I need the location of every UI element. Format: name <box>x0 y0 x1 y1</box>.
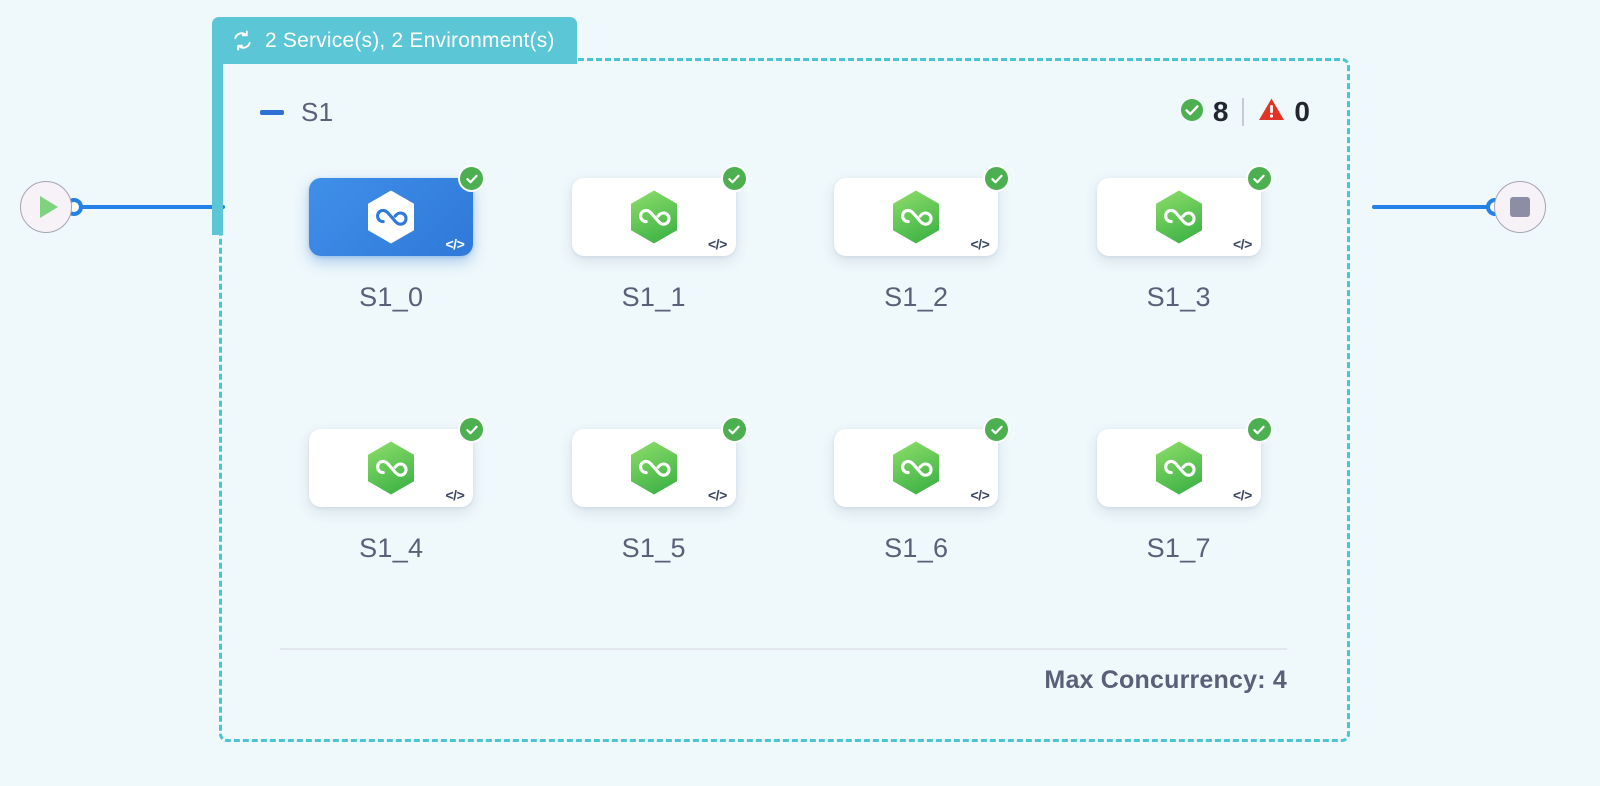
group-title: S1 <box>301 97 333 128</box>
edge-group-to-end <box>1372 205 1504 209</box>
max-concurrency-label: Max Concurrency: 4 <box>1044 666 1287 695</box>
code-icon[interactable]: </> <box>708 488 727 502</box>
stop-icon <box>1510 197 1530 217</box>
node-label: S1_5 <box>622 533 686 564</box>
hexagon-infinity-icon <box>365 440 417 496</box>
check-circle-icon <box>1246 416 1273 443</box>
warning-triangle-icon <box>1258 97 1285 127</box>
status-warning: 0 <box>1258 97 1310 127</box>
check-circle-icon <box>721 165 748 192</box>
code-icon[interactable]: </> <box>708 237 727 251</box>
service-node-card[interactable]: </> <box>572 429 736 507</box>
service-node-card[interactable]: </> <box>1097 429 1261 507</box>
status-success-count: 8 <box>1213 98 1229 126</box>
status-counts: 8 0 <box>1180 97 1310 127</box>
workflow-canvas[interactable]: 2 Service(s), 2 Environment(s) S1 8 <box>0 0 1600 786</box>
service-node-card[interactable]: </> <box>1097 178 1261 256</box>
check-circle-icon <box>458 165 485 192</box>
hexagon-infinity-icon <box>628 440 680 496</box>
check-circle-icon <box>1180 98 1204 127</box>
group-collapse-toggle[interactable]: S1 <box>260 97 333 128</box>
end-node[interactable] <box>1494 181 1546 233</box>
group-header: S1 8 <box>260 92 1310 132</box>
status-warning-count: 0 <box>1294 98 1310 126</box>
play-icon <box>40 196 58 218</box>
node-label: S1_2 <box>884 282 948 313</box>
check-circle-icon <box>983 416 1010 443</box>
hexagon-infinity-icon <box>1153 189 1205 245</box>
status-divider <box>1242 98 1244 126</box>
loop-arrows-icon <box>231 29 254 52</box>
code-icon[interactable]: </> <box>446 488 465 502</box>
hexagon-infinity-icon <box>365 189 417 245</box>
service-node-card[interactable]: </> <box>834 178 998 256</box>
check-circle-icon <box>1246 165 1273 192</box>
group-frame <box>219 58 1350 742</box>
minus-icon <box>260 110 284 115</box>
code-icon[interactable]: </> <box>1233 237 1252 251</box>
hexagon-infinity-icon <box>890 440 942 496</box>
group-badge[interactable]: 2 Service(s), 2 Environment(s) <box>212 17 577 64</box>
node-label: S1_0 <box>359 282 423 313</box>
node-cell: </>S1_5 <box>523 429 786 564</box>
service-node-card[interactable]: </> <box>834 429 998 507</box>
node-cell: </>S1_0 <box>260 178 523 313</box>
hexagon-infinity-icon <box>1153 440 1205 496</box>
node-label: S1_3 <box>1147 282 1211 313</box>
node-label: S1_7 <box>1147 533 1211 564</box>
check-circle-icon <box>458 416 485 443</box>
group-footer-divider <box>280 648 1287 650</box>
service-node-card[interactable]: </> <box>572 178 736 256</box>
node-cell: </>S1_7 <box>1048 429 1311 564</box>
check-circle-icon <box>721 416 748 443</box>
node-label: S1_4 <box>359 533 423 564</box>
service-node-card[interactable]: </> <box>309 178 473 256</box>
node-row: </>S1_0</>S1_1</>S1_2</>S1_3 <box>260 178 1310 313</box>
service-node-card[interactable]: </> <box>309 429 473 507</box>
code-icon[interactable]: </> <box>971 488 990 502</box>
node-label: S1_1 <box>622 282 686 313</box>
code-icon[interactable]: </> <box>446 237 465 251</box>
group-badge-label: 2 Service(s), 2 Environment(s) <box>265 29 555 53</box>
node-cell: </>S1_4 <box>260 429 523 564</box>
group-badge-stem <box>212 60 223 235</box>
node-label: S1_6 <box>884 533 948 564</box>
edge-start-to-group <box>75 205 225 209</box>
code-icon[interactable]: </> <box>971 237 990 251</box>
node-cell: </>S1_2 <box>785 178 1048 313</box>
node-cell: </>S1_3 <box>1048 178 1311 313</box>
code-icon[interactable]: </> <box>1233 488 1252 502</box>
node-cell: </>S1_1 <box>523 178 786 313</box>
status-success: 8 <box>1180 98 1229 127</box>
hexagon-infinity-icon <box>628 189 680 245</box>
node-cell: </>S1_6 <box>785 429 1048 564</box>
start-node[interactable] <box>20 181 72 233</box>
check-circle-icon <box>983 165 1010 192</box>
node-row: </>S1_4</>S1_5</>S1_6</>S1_7 <box>260 429 1310 564</box>
hexagon-infinity-icon <box>890 189 942 245</box>
